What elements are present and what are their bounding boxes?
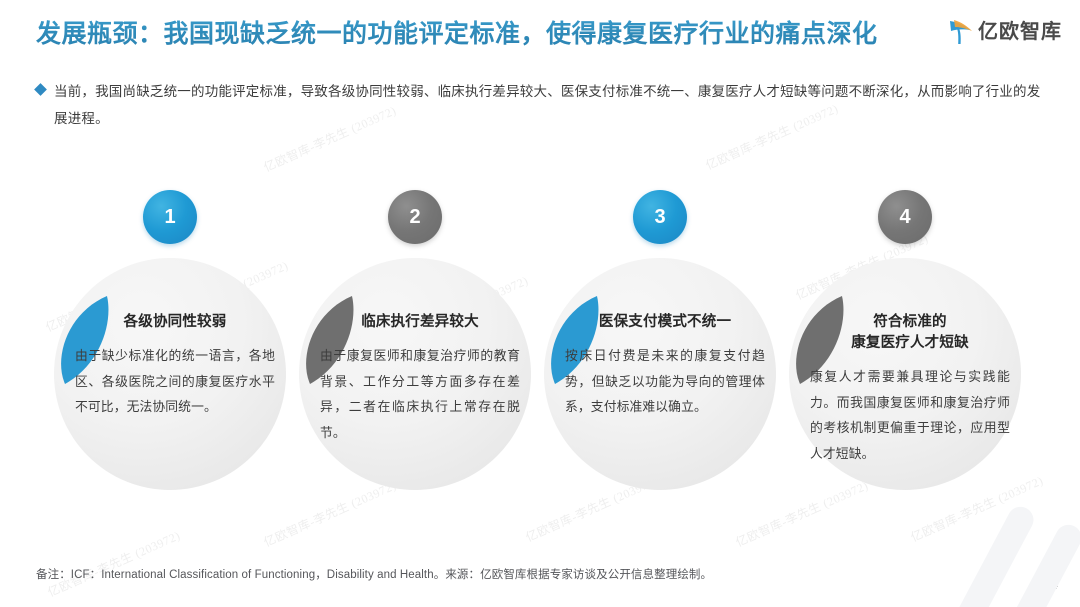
- card-3-desc: 按床日付费是未来的康复支付趋势，但缺乏以功能为导向的管理体系，支付标准难以确立。: [565, 343, 765, 420]
- card-1[interactable]: 1 各级协同性较弱 由于缺少标准化的统一语言，各地区、各级医院之间的康复医疗水平…: [47, 190, 293, 490]
- card-4-title: 符合标准的 康复医疗人才短缺: [810, 312, 1010, 354]
- footnote: 备注：ICF：International Classification of F…: [36, 566, 712, 582]
- card-2[interactable]: 2 临床执行差异较大 由于康复医师和康复治疗师的教育背景、工作分工等方面多存在差…: [292, 190, 538, 490]
- card-3-number-badge: 3: [633, 190, 687, 244]
- card-2-number-badge: 2: [388, 190, 442, 244]
- brand-logo: 亿欧智库: [948, 18, 1062, 46]
- cards-row: 1 各级协同性较弱 由于缺少标准化的统一语言，各地区、各级医院之间的康复医疗水平…: [0, 190, 1080, 490]
- card-3-title: 医保支付模式不统一: [565, 312, 765, 333]
- intro-paragraph: 当前，我国尚缺乏统一的功能评定标准，导致各级协同性较弱、临床执行差异较大、医保支…: [36, 78, 1046, 132]
- logo-text: 亿欧智库: [978, 22, 1062, 42]
- card-1-number-badge: 1: [143, 190, 197, 244]
- card-1-desc: 由于缺少标准化的统一语言，各地区、各级医院之间的康复医疗水平不可比，无法协同统一…: [75, 343, 275, 420]
- diamond-bullet-icon: [34, 83, 47, 96]
- card-1-body: 各级协同性较弱 由于缺少标准化的统一语言，各地区、各级医院之间的康复医疗水平不可…: [75, 312, 275, 420]
- card-2-title: 临床执行差异较大: [320, 312, 520, 333]
- card-4[interactable]: 4 符合标准的 康复医疗人才短缺 康复人才需要兼具理论与实践能力。而我国康复医师…: [782, 190, 1028, 490]
- card-1-title: 各级协同性较弱: [75, 312, 275, 333]
- card-4-number-badge: 4: [878, 190, 932, 244]
- page-header: 发展瓶颈：我国现缺乏统一的功能评定标准，使得康复医疗行业的痛点深化 亿欧智库: [0, 0, 1080, 62]
- card-3-body: 医保支付模式不统一 按床日付费是未来的康复支付趋势，但缺乏以功能为导向的管理体系…: [565, 312, 765, 420]
- intro-text: 当前，我国尚缺乏统一的功能评定标准，导致各级协同性较弱、临床执行差异较大、医保支…: [54, 78, 1046, 132]
- card-3[interactable]: 3 医保支付模式不统一 按床日付费是未来的康复支付趋势，但缺乏以功能为导向的管理…: [537, 190, 783, 490]
- card-2-body: 临床执行差异较大 由于康复医师和康复治疗师的教育背景、工作分工等方面多存在差异，…: [320, 312, 520, 445]
- watermark: 亿欧智库-李先生 (203972): [45, 527, 183, 601]
- card-4-body: 符合标准的 康复医疗人才短缺 康复人才需要兼具理论与实践能力。而我国康复医师和康…: [810, 312, 1010, 466]
- card-2-desc: 由于康复医师和康复治疗师的教育背景、工作分工等方面多存在差异，二者在临床执行上常…: [320, 343, 520, 445]
- page-title: 发展瓶颈：我国现缺乏统一的功能评定标准，使得康复医疗行业的痛点深化: [36, 14, 878, 50]
- page-number: 14: [1044, 578, 1058, 592]
- card-4-desc: 康复人才需要兼具理论与实践能力。而我国康复医师和康复治疗师的考核机制更偏重于理论…: [810, 364, 1010, 466]
- logo-mark-icon: [948, 18, 974, 46]
